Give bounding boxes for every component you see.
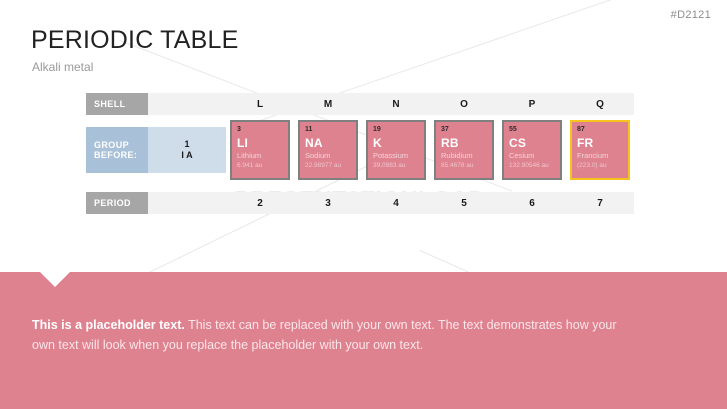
element-symbol: CS	[509, 137, 555, 149]
shell-cell-Q: Q	[566, 99, 634, 110]
shell-label-text: SHELL	[94, 99, 148, 109]
element-symbol: RB	[441, 137, 487, 149]
element-card-lithium[interactable]: 3 LI Lithium 6.941 au	[230, 120, 290, 180]
element-slot: 37 RB Rubidium 85.4678 au	[430, 120, 498, 180]
element-symbol: LI	[237, 137, 283, 149]
page-subtitle: Alkali metal	[32, 60, 93, 74]
period-cell-4: 4	[362, 198, 430, 209]
period-label-text: PERIOD	[94, 198, 148, 208]
placeholder-text: This is a placeholder text. This text ca…	[32, 315, 632, 356]
element-atomic-mass: 85.4678 au	[441, 162, 487, 169]
element-atomic-mass: (223.0) au	[577, 162, 623, 169]
element-atomic-mass: 132.90546 au	[509, 162, 555, 169]
shell-cell-N: N	[362, 99, 430, 110]
group-before-row-track: 1 I A 3 LI Lithium 6.941 au	[148, 127, 634, 173]
element-atomic-mass: 22.98977 au	[305, 162, 351, 169]
shell-cell-L: L	[226, 99, 294, 110]
element-name: Rubidium	[441, 152, 487, 161]
group-before-row: GROUP BEFORE: 1 I A 3 LI Lithium 6.941 a…	[86, 127, 634, 173]
element-name: Lithium	[237, 152, 283, 161]
element-atomic-number: 87	[577, 126, 623, 133]
period-cell-6: 6	[498, 198, 566, 209]
element-slot: 55 CS Cesium 132.90546 au	[498, 120, 566, 180]
period-row: PERIOD 2 3 4 5 6 7	[86, 192, 634, 214]
shell-cell-O: O	[430, 99, 498, 110]
document-id: #D2121	[671, 9, 711, 21]
element-slot: 3 LI Lithium 6.941 au	[226, 120, 294, 180]
element-card-francium[interactable]: 87 FR Francium (223.0) au	[570, 120, 630, 180]
period-row-track: 2 3 4 5 6 7	[148, 192, 634, 214]
slide: #D2121 PERIODIC TABLE Alkali metal PRESE…	[0, 0, 727, 409]
period-cell-2: 2	[226, 198, 294, 209]
element-symbol: FR	[577, 137, 623, 149]
element-slot: 19 K Potassium 39.0983 au	[362, 120, 430, 180]
element-atomic-number: 55	[509, 126, 555, 133]
banner-notch-icon	[40, 272, 70, 287]
element-atomic-number: 3	[237, 126, 283, 133]
element-card-sodium[interactable]: 11 NA Sodium 22.98977 au	[298, 120, 358, 180]
element-card-cesium[interactable]: 55 CS Cesium 132.90546 au	[502, 120, 562, 180]
element-atomic-mass: 6.941 au	[237, 162, 283, 169]
element-atomic-number: 19	[373, 126, 419, 133]
element-atomic-number: 37	[441, 126, 487, 133]
page-title: PERIODIC TABLE	[31, 26, 239, 55]
element-slot: 11 NA Sodium 22.98977 au	[294, 120, 362, 180]
period-row-label: PERIOD	[86, 192, 148, 214]
element-atomic-mass: 39.0983 au	[373, 162, 419, 169]
group-label-line1: GROUP	[94, 140, 148, 150]
element-symbol: NA	[305, 137, 351, 149]
element-card-potassium[interactable]: 19 K Potassium 39.0983 au	[366, 120, 426, 180]
group-number: 1	[184, 139, 189, 150]
shell-cell-P: P	[498, 99, 566, 110]
element-name: Cesium	[509, 152, 555, 161]
element-name: Potassium	[373, 152, 419, 161]
element-card-rubidium[interactable]: 37 RB Rubidium 85.4678 au	[434, 120, 494, 180]
placeholder-text-bold: This is a placeholder text.	[32, 318, 185, 332]
shell-row-track: L M N O P Q	[148, 93, 634, 115]
shell-row: SHELL L M N O P Q	[86, 93, 634, 115]
group-before-value: 1 I A	[148, 127, 226, 173]
placeholder-banner: This is a placeholder text. This text ca…	[0, 272, 727, 409]
shell-row-label: SHELL	[86, 93, 148, 115]
element-symbol: K	[373, 137, 419, 149]
group-label-line2: BEFORE:	[94, 150, 148, 160]
group-roman: I A	[181, 150, 192, 161]
period-cell-7: 7	[566, 198, 634, 209]
element-atomic-number: 11	[305, 126, 351, 133]
shell-cell-M: M	[294, 99, 362, 110]
period-cell-3: 3	[294, 198, 362, 209]
element-name: Sodium	[305, 152, 351, 161]
element-name: Francium	[577, 152, 623, 161]
element-cards-container: 3 LI Lithium 6.941 au 11 NA Sodium 22.98…	[226, 127, 634, 173]
period-cell-5: 5	[430, 198, 498, 209]
group-before-row-label: GROUP BEFORE:	[86, 127, 148, 173]
element-slot: 87 FR Francium (223.0) au	[566, 120, 634, 180]
